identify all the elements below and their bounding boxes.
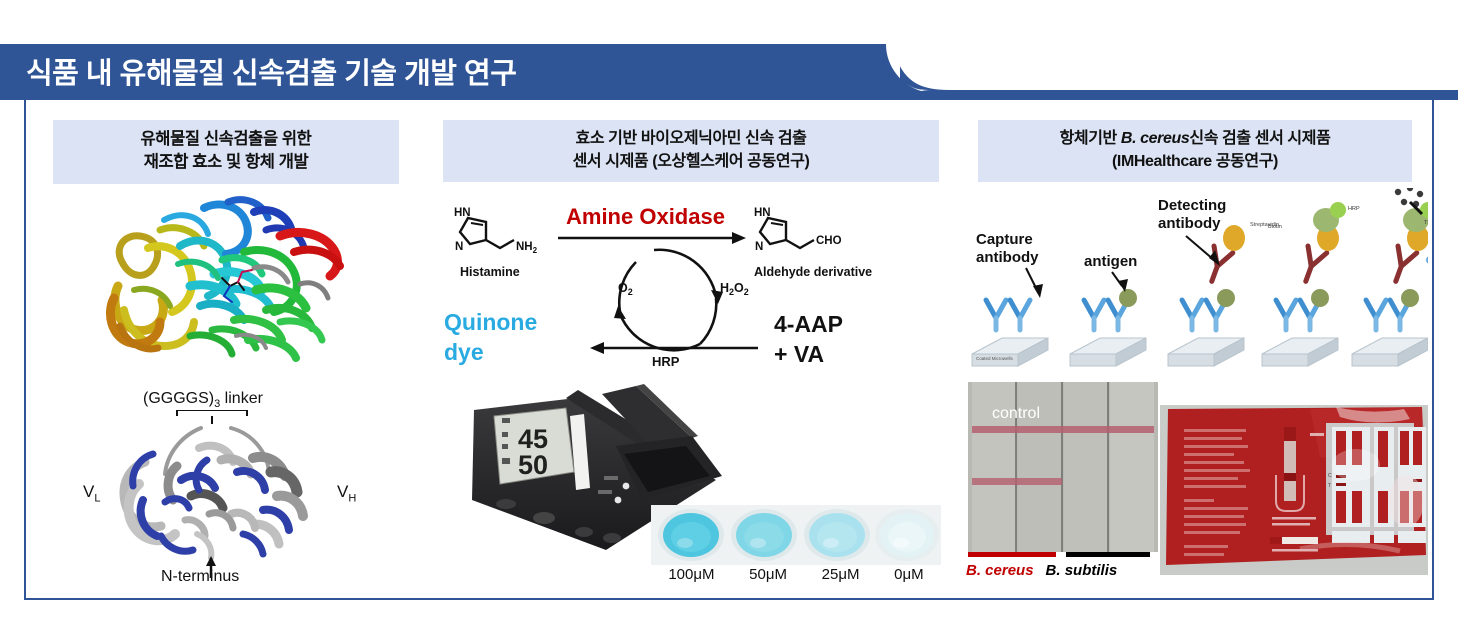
column-1-header-line1: 유해물질 신속검출을 위한 bbox=[59, 128, 393, 151]
legend-bar-cereus bbox=[968, 552, 1056, 557]
scfv-structure-figure: (GGGGS)3 linker bbox=[81, 390, 381, 590]
reaction-scheme-figure: HN N NH2 Histamine HN N CHO Aldehyde der… bbox=[438, 192, 944, 372]
aldehyde-label: Aldehyde derivative bbox=[754, 265, 872, 279]
column-2-header-line2: 센서 시제품 (오상헬스케어 공동연구) bbox=[449, 151, 933, 174]
legend-label-cereus: B. cereus bbox=[966, 562, 1034, 579]
control-label: control bbox=[992, 405, 1040, 422]
column-1-header-line2: 재조합 효소 및 항체 개발 bbox=[59, 151, 393, 174]
wellplate-concentration-labels: 100μM 50μM 25μM 0μM bbox=[651, 566, 941, 583]
column-2-header: 효소 기반 바이오제닉아민 신속 검출 센서 시제품 (오상헬스케어 공동연구) bbox=[443, 120, 939, 182]
conc-label-0: 100μM bbox=[668, 566, 714, 583]
capture-antibody-label-line2: antibody bbox=[976, 249, 1039, 266]
quinone-label-line1: Quinone bbox=[444, 309, 537, 335]
tmb-substrate-label: TMB Substrate bbox=[1424, 220, 1428, 226]
column-biogenic-amine-sensor: 효소 기반 바이오제닉아민 신속 검출 센서 시제품 (오상헬스케어 공동연구)… bbox=[426, 100, 956, 598]
vl-label: VL bbox=[83, 482, 100, 504]
h2o2-label: H2O2 bbox=[720, 281, 749, 297]
protein-ribbon-figure bbox=[104, 190, 354, 385]
conc-label-3: 0μM bbox=[894, 566, 923, 583]
svg-text:C: C bbox=[1328, 473, 1332, 479]
svg-text:N: N bbox=[755, 241, 763, 253]
hn-label: HN bbox=[454, 207, 471, 219]
wellplate-photo bbox=[651, 505, 941, 565]
column-recombinant-enzyme-antibody: 유해물질 신속검출을 위한 재조합 효소 및 항체 개발 bbox=[26, 100, 426, 598]
o2-label: O2 bbox=[618, 281, 633, 297]
column-bcereus-sensor: 항체기반 B. cereus신속 검출 센서 시제품 (IMHealthcare… bbox=[956, 100, 1434, 598]
device-display-bottom: 50 bbox=[518, 450, 548, 480]
vh-label: VH bbox=[337, 482, 356, 504]
column-3-header-line2: (IMHealthcare 공동연구) bbox=[984, 151, 1406, 174]
content-frame: 유해물질 신속검출을 위한 재조합 효소 및 항체 개발 bbox=[24, 100, 1434, 600]
histamine-label: Histamine bbox=[460, 265, 520, 279]
biotin-label: Biotin bbox=[1268, 224, 1282, 230]
column-3-header: 항체기반 B. cereus신속 검출 센서 시제품 (IMHealthcare… bbox=[978, 120, 1412, 182]
strip-legend: B. cereus B. subtilis bbox=[962, 552, 1172, 579]
column-2-header-line1: 효소 기반 바이오제닉아민 신속 검출 bbox=[449, 128, 933, 151]
legend-bars bbox=[962, 552, 1172, 559]
conc-label-1: 50μM bbox=[749, 566, 787, 583]
linker-label: (GGGGS)3 linker bbox=[143, 390, 263, 410]
conc-label-2: 25μM bbox=[822, 566, 860, 583]
coated-microwells-label: Coated Microwells bbox=[976, 356, 1014, 361]
elisa-diagram-figure: Capture antibody antigen Detecting bbox=[962, 188, 1428, 378]
column-3-header-line1: 항체기반 B. cereus신속 검출 센서 시제품 bbox=[984, 128, 1406, 151]
legend-bar-subtilis bbox=[1066, 552, 1150, 557]
page-title: 식품 내 유해물질 신속검출 기술 개발 연구 bbox=[26, 50, 516, 92]
lateral-flow-strip-photo: control bbox=[968, 382, 1158, 552]
capture-antibody-label-line1: Capture bbox=[976, 231, 1033, 248]
detecting-antibody-label-line1: Detecting bbox=[1158, 197, 1226, 214]
column-1-header: 유해물질 신속검출을 위한 재조합 효소 및 항체 개발 bbox=[53, 120, 399, 184]
amine-oxidase-label: Amine Oxidase bbox=[566, 204, 725, 229]
cho-label: CHO bbox=[816, 235, 842, 247]
nh2-label: NH2 bbox=[516, 241, 538, 255]
legend-text: B. cereus B. subtilis bbox=[962, 562, 1172, 579]
detecting-antibody-label-line2: antibody bbox=[1158, 215, 1221, 232]
va-label: + VA bbox=[774, 341, 824, 367]
nterminus-label: N-terminus bbox=[161, 568, 239, 586]
test-kit-photo: C T bbox=[1160, 405, 1428, 575]
antigen-label: antigen bbox=[1084, 253, 1137, 270]
svg-text:HN: HN bbox=[754, 207, 771, 219]
quinone-label-line2: dye bbox=[444, 339, 484, 365]
hrp-small-label: HRP bbox=[1348, 206, 1360, 212]
aap-label: 4-AAP bbox=[774, 311, 843, 337]
hrp-label: HRP bbox=[652, 354, 680, 369]
legend-label-subtilis: B. subtilis bbox=[1046, 562, 1118, 579]
svg-text:T: T bbox=[1328, 483, 1331, 489]
scfv-ribbon bbox=[81, 410, 381, 585]
n-label: N bbox=[455, 241, 463, 253]
